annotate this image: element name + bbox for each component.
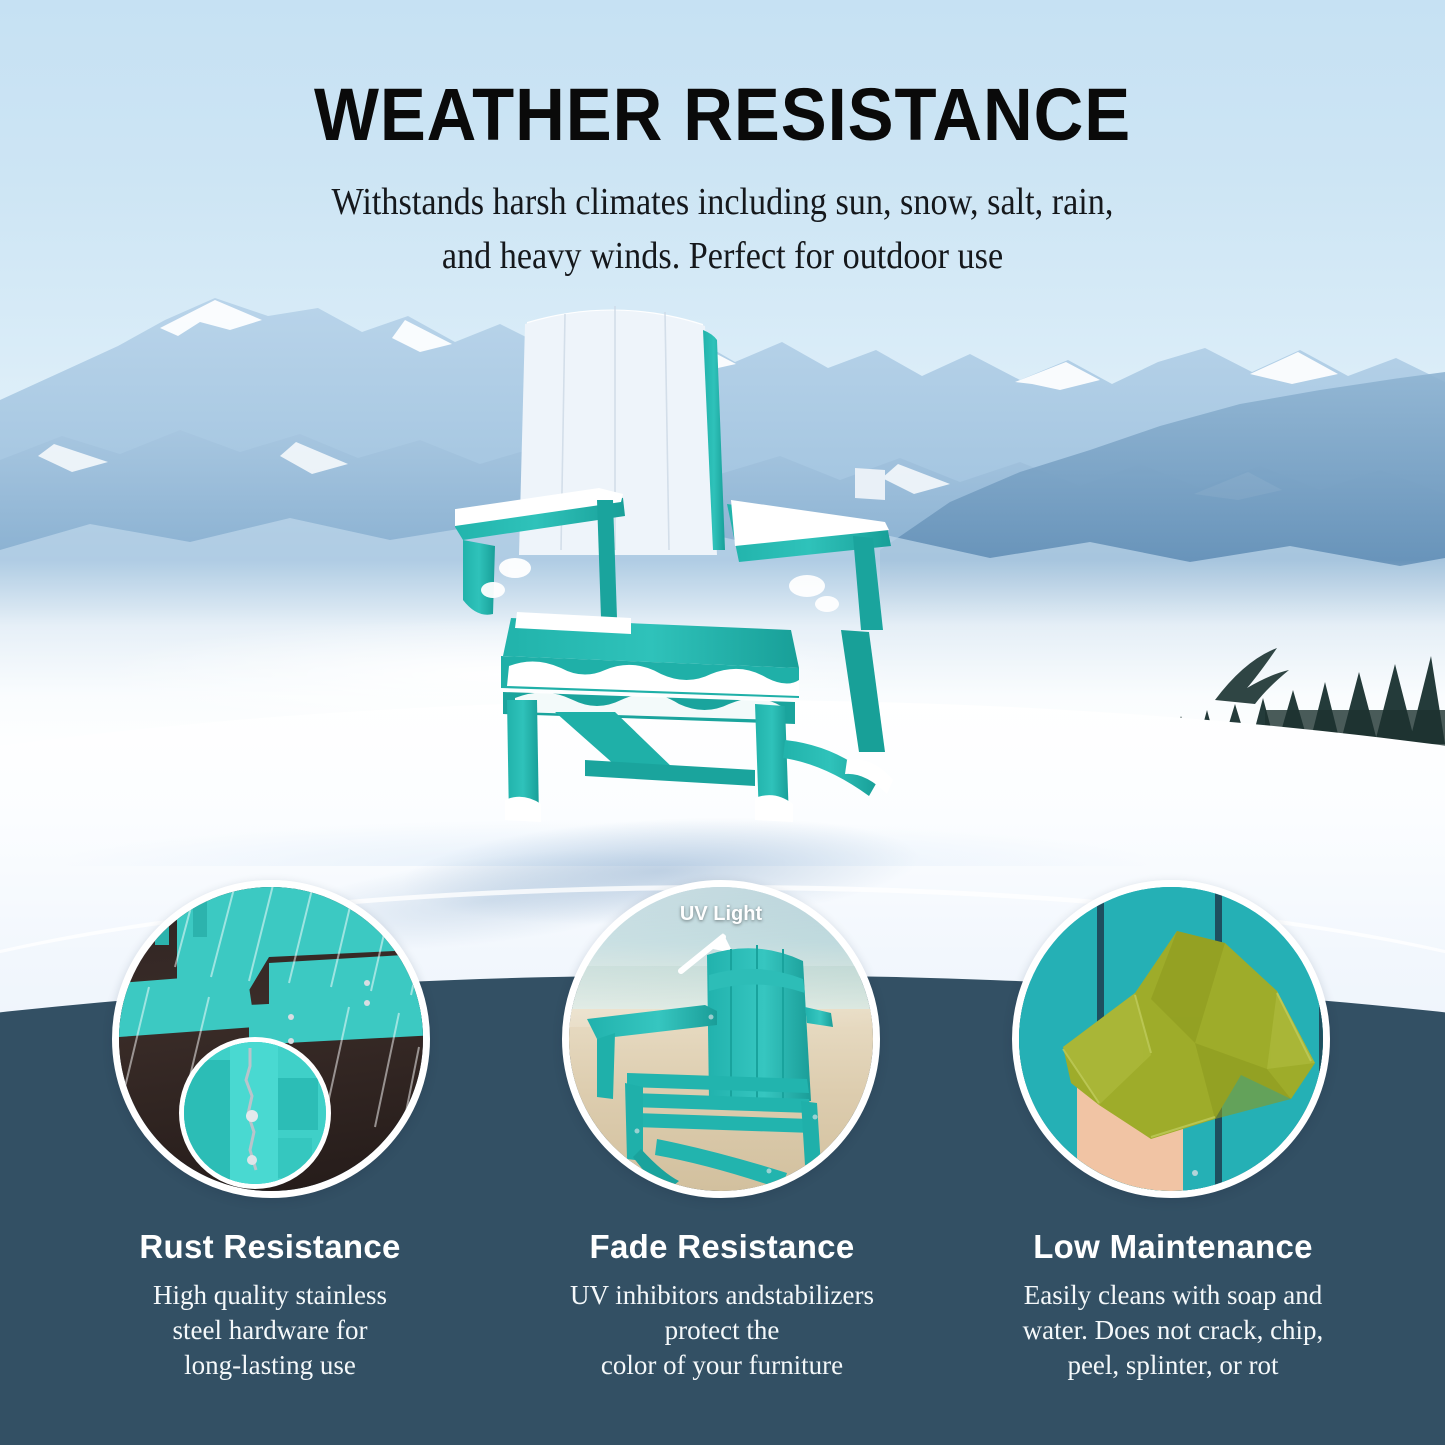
feature-circle-fade[interactable]: UV Light xyxy=(562,880,880,1198)
feature-desc-line: color of your furniture xyxy=(512,1348,932,1383)
feature-desc-line: peel, splinter, or rot xyxy=(963,1348,1383,1383)
feature-circle-rust[interactable] xyxy=(112,880,430,1198)
page-title: WEATHER RESISTANCE xyxy=(51,72,1395,157)
hero-chair-image xyxy=(455,300,975,860)
feature-desc-line: Easily cleans with soap and xyxy=(963,1278,1383,1313)
subtitle-line: Withstands harsh climates including sun,… xyxy=(72,176,1373,230)
feature-desc-line: long-lasting use xyxy=(60,1348,480,1383)
hinge-zoom-inset xyxy=(179,1037,331,1189)
feature-desc-line: UV inhibitors andstabilizers xyxy=(512,1278,932,1313)
feature-desc-line: water. Does not crack, chip, xyxy=(963,1313,1383,1348)
feature-desc-line: High quality stainless xyxy=(60,1278,480,1313)
feature-description: High quality stainless steel hardware fo… xyxy=(60,1278,480,1383)
infographic-stage: UV Light xyxy=(0,0,1445,1445)
feature-image-circles: UV Light xyxy=(0,880,1445,1220)
feature-circle-maintenance[interactable] xyxy=(1012,880,1330,1198)
feature-title: Low Maintenance xyxy=(963,1228,1383,1266)
feature-description: Easily cleans with soap and water. Does … xyxy=(963,1278,1383,1383)
feature-block-rust: Rust Resistance High quality stainless s… xyxy=(60,1228,480,1383)
feature-desc-line: protect the xyxy=(512,1313,932,1348)
feature-text-row: Rust Resistance High quality stainless s… xyxy=(0,1228,1445,1428)
feature-title: Rust Resistance xyxy=(60,1228,480,1266)
subtitle-line: and heavy winds. Perfect for outdoor use xyxy=(72,230,1373,284)
feature-block-fade: Fade Resistance UV inhibitors andstabili… xyxy=(512,1228,932,1383)
feature-block-maintenance: Low Maintenance Easily cleans with soap … xyxy=(963,1228,1383,1383)
feature-description: UV inhibitors andstabilizers protect the… xyxy=(512,1278,932,1383)
feature-title: Fade Resistance xyxy=(512,1228,932,1266)
feature-desc-line: steel hardware for xyxy=(60,1313,480,1348)
page-subtitle: Withstands harsh climates including sun,… xyxy=(72,176,1373,284)
